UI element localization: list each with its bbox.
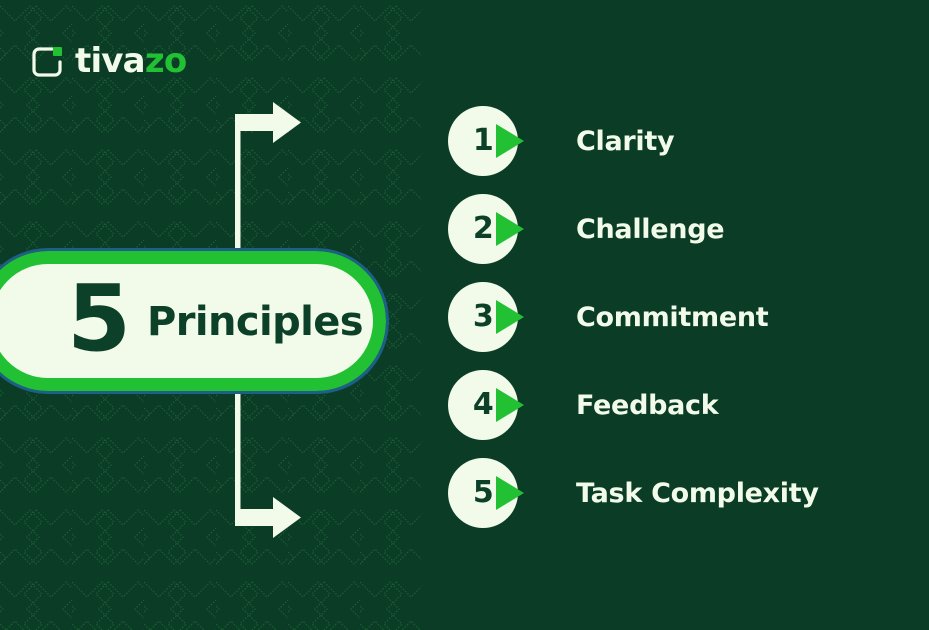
principle-label: Clarity bbox=[576, 128, 674, 155]
principle-number: 1 bbox=[473, 126, 493, 156]
principle-badge: 5 bbox=[448, 458, 518, 528]
list-item[interactable]: 5 Task Complexity bbox=[448, 458, 918, 528]
triangle-right-icon bbox=[496, 300, 524, 334]
principle-number: 5 bbox=[473, 478, 493, 508]
headline-label: Principles bbox=[147, 302, 363, 342]
list-item[interactable]: 3 Commitment bbox=[448, 282, 918, 352]
arrow-right-icon-top bbox=[235, 102, 301, 143]
triangle-right-icon bbox=[496, 388, 524, 422]
headline-pill: 5 Principles bbox=[0, 251, 386, 391]
brand-wordmark: tivazo bbox=[75, 44, 186, 78]
brand-logo[interactable]: tivazo bbox=[30, 40, 186, 84]
principle-number: 2 bbox=[473, 214, 493, 244]
triangle-right-icon bbox=[496, 212, 524, 246]
principle-badge: 4 bbox=[448, 370, 518, 440]
triangle-right-icon bbox=[496, 124, 524, 158]
principles-list: 1 Clarity 2 Challenge 3 Commitment bbox=[448, 106, 918, 528]
infographic-canvas: tivazo 5 Principles bbox=[0, 0, 929, 630]
rounded-square-bracket-icon bbox=[30, 45, 64, 79]
principle-label: Task Complexity bbox=[576, 480, 819, 507]
principle-label: Challenge bbox=[576, 216, 724, 243]
headline-number: 5 bbox=[67, 273, 129, 365]
list-item[interactable]: 4 Feedback bbox=[448, 370, 918, 440]
principle-label: Feedback bbox=[576, 392, 718, 419]
principle-number: 4 bbox=[473, 390, 493, 420]
principle-badge: 2 bbox=[448, 194, 518, 264]
list-item[interactable]: 2 Challenge bbox=[448, 194, 918, 264]
principle-number: 3 bbox=[473, 302, 493, 332]
brand-wordmark-light: tiva bbox=[75, 41, 145, 81]
arrow-right-icon-bottom bbox=[235, 497, 301, 538]
principle-badge: 3 bbox=[448, 282, 518, 352]
brand-wordmark-accent: zo bbox=[145, 41, 187, 81]
principle-badge: 1 bbox=[448, 106, 518, 176]
list-item[interactable]: 1 Clarity bbox=[448, 106, 918, 176]
triangle-right-icon bbox=[496, 476, 524, 510]
principle-label: Commitment bbox=[576, 304, 768, 331]
